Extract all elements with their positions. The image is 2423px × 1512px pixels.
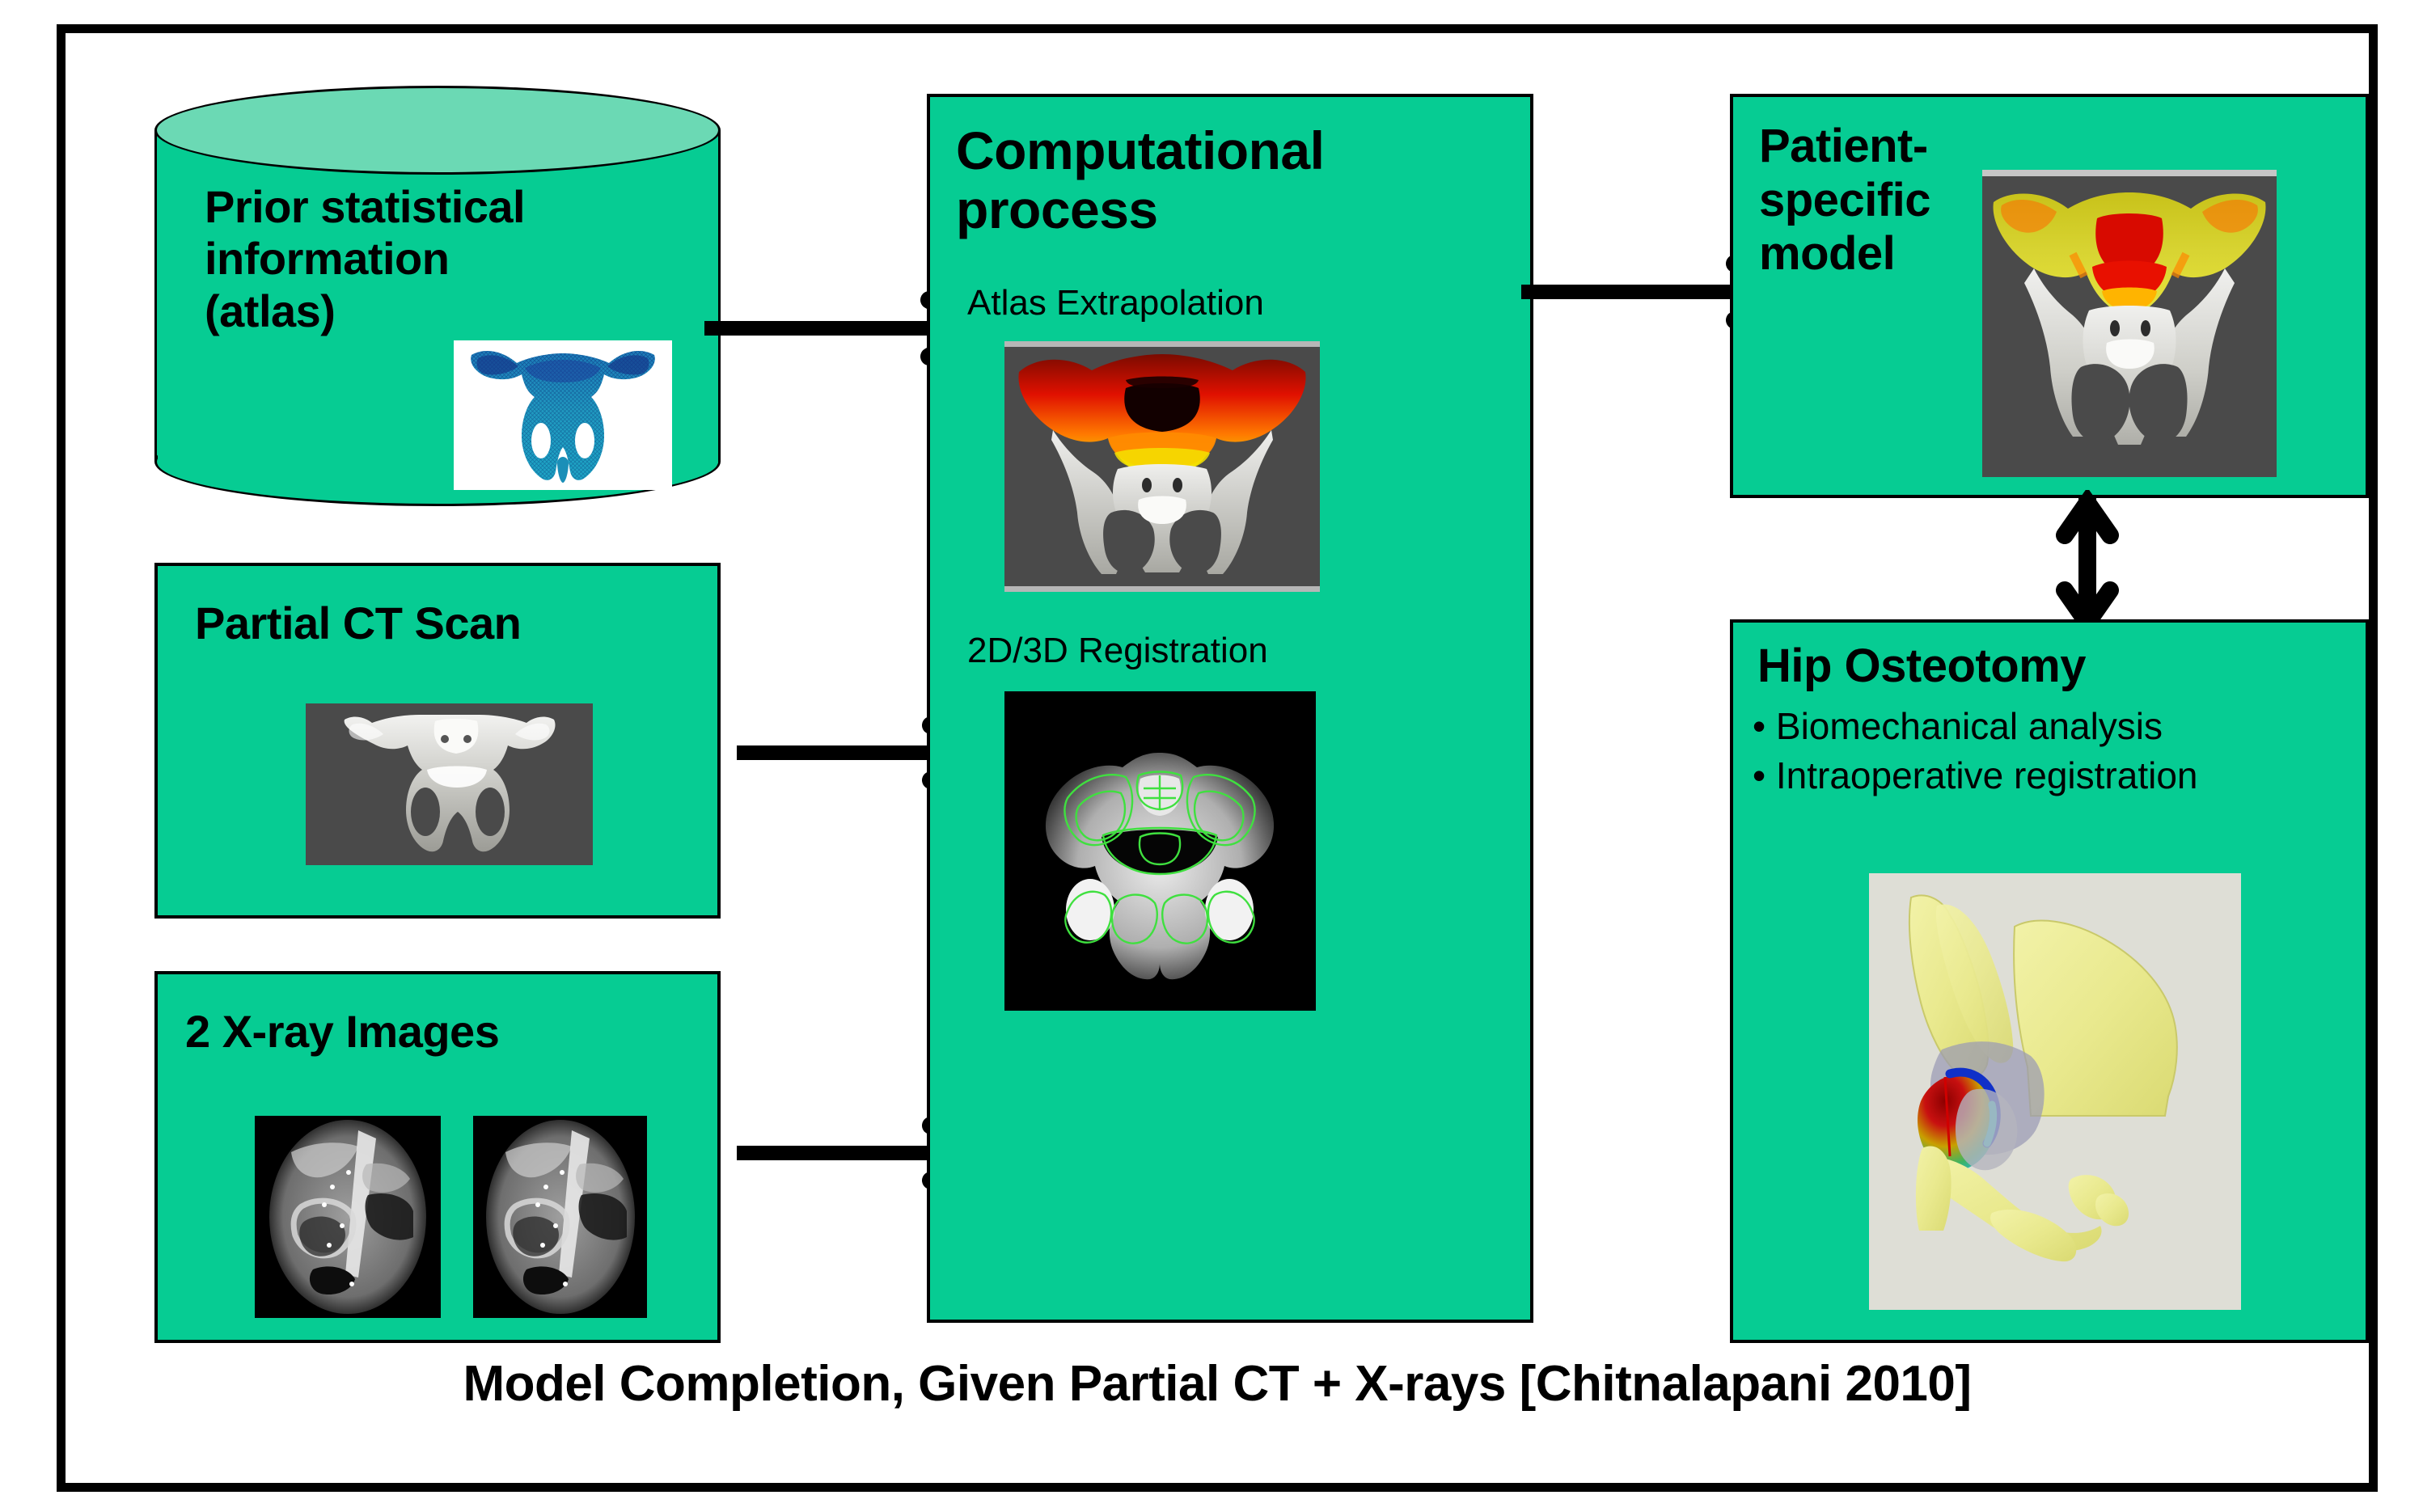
hip-osteotomy-image (1869, 873, 2241, 1310)
partial-ct-image (306, 703, 593, 865)
diagram-caption: Model Completion, Given Partial CT + X-r… (66, 1355, 2369, 1413)
bullet-glyph: • (1753, 705, 1765, 747)
xray-image-2 (473, 1116, 647, 1318)
registration-label: 2D/3D Registration (967, 631, 1268, 671)
bullet-text: Intraoperative registration (1776, 754, 2198, 796)
xray-image-1 (255, 1116, 441, 1318)
hip-osteotomy-label: Hip Osteotomy (1757, 642, 2086, 691)
computational-process-title: Computational process (956, 121, 1296, 239)
partial-ct-label: Partial CT Scan (195, 600, 521, 647)
atlas-extrapolation-image (1004, 341, 1320, 592)
patient-specific-model-box: Patient-specific model (1730, 94, 2369, 498)
list-item: • Biomechanical analysis (1753, 702, 2198, 751)
hip-osteotomy-box: Hip Osteotomy • Biomechanical analysis •… (1730, 619, 2369, 1343)
computational-process-box: Computational process Atlas Extrapolatio… (927, 94, 1533, 1323)
bullet-glyph: • (1753, 754, 1765, 796)
partial-ct-box: Partial CT Scan (154, 563, 721, 919)
atlas-label: Prior statistical information (atlas) (205, 181, 544, 337)
atlas-extrapolation-label: Atlas Extrapolation (967, 283, 1264, 323)
xray-box: 2 X-ray Images (154, 971, 721, 1343)
hip-osteotomy-bullet-list: • Biomechanical analysis • Intraoperativ… (1753, 702, 2198, 800)
diagram-frame: Prior statistical information (atlas) (57, 24, 2378, 1492)
cylinder-top-ellipse (154, 86, 721, 175)
atlas-datastore-cylinder: Prior statistical information (atlas) (154, 86, 721, 506)
bullet-text: Biomechanical analysis (1776, 705, 2163, 747)
list-item: • Intraoperative registration (1753, 751, 2198, 800)
xray-label: 2 X-ray Images (185, 1008, 499, 1055)
arrow-model-to-application (2031, 490, 2144, 636)
atlas-mesh-image (454, 340, 672, 490)
registration-image (1004, 691, 1316, 1011)
patient-specific-model-image (1982, 170, 2277, 477)
